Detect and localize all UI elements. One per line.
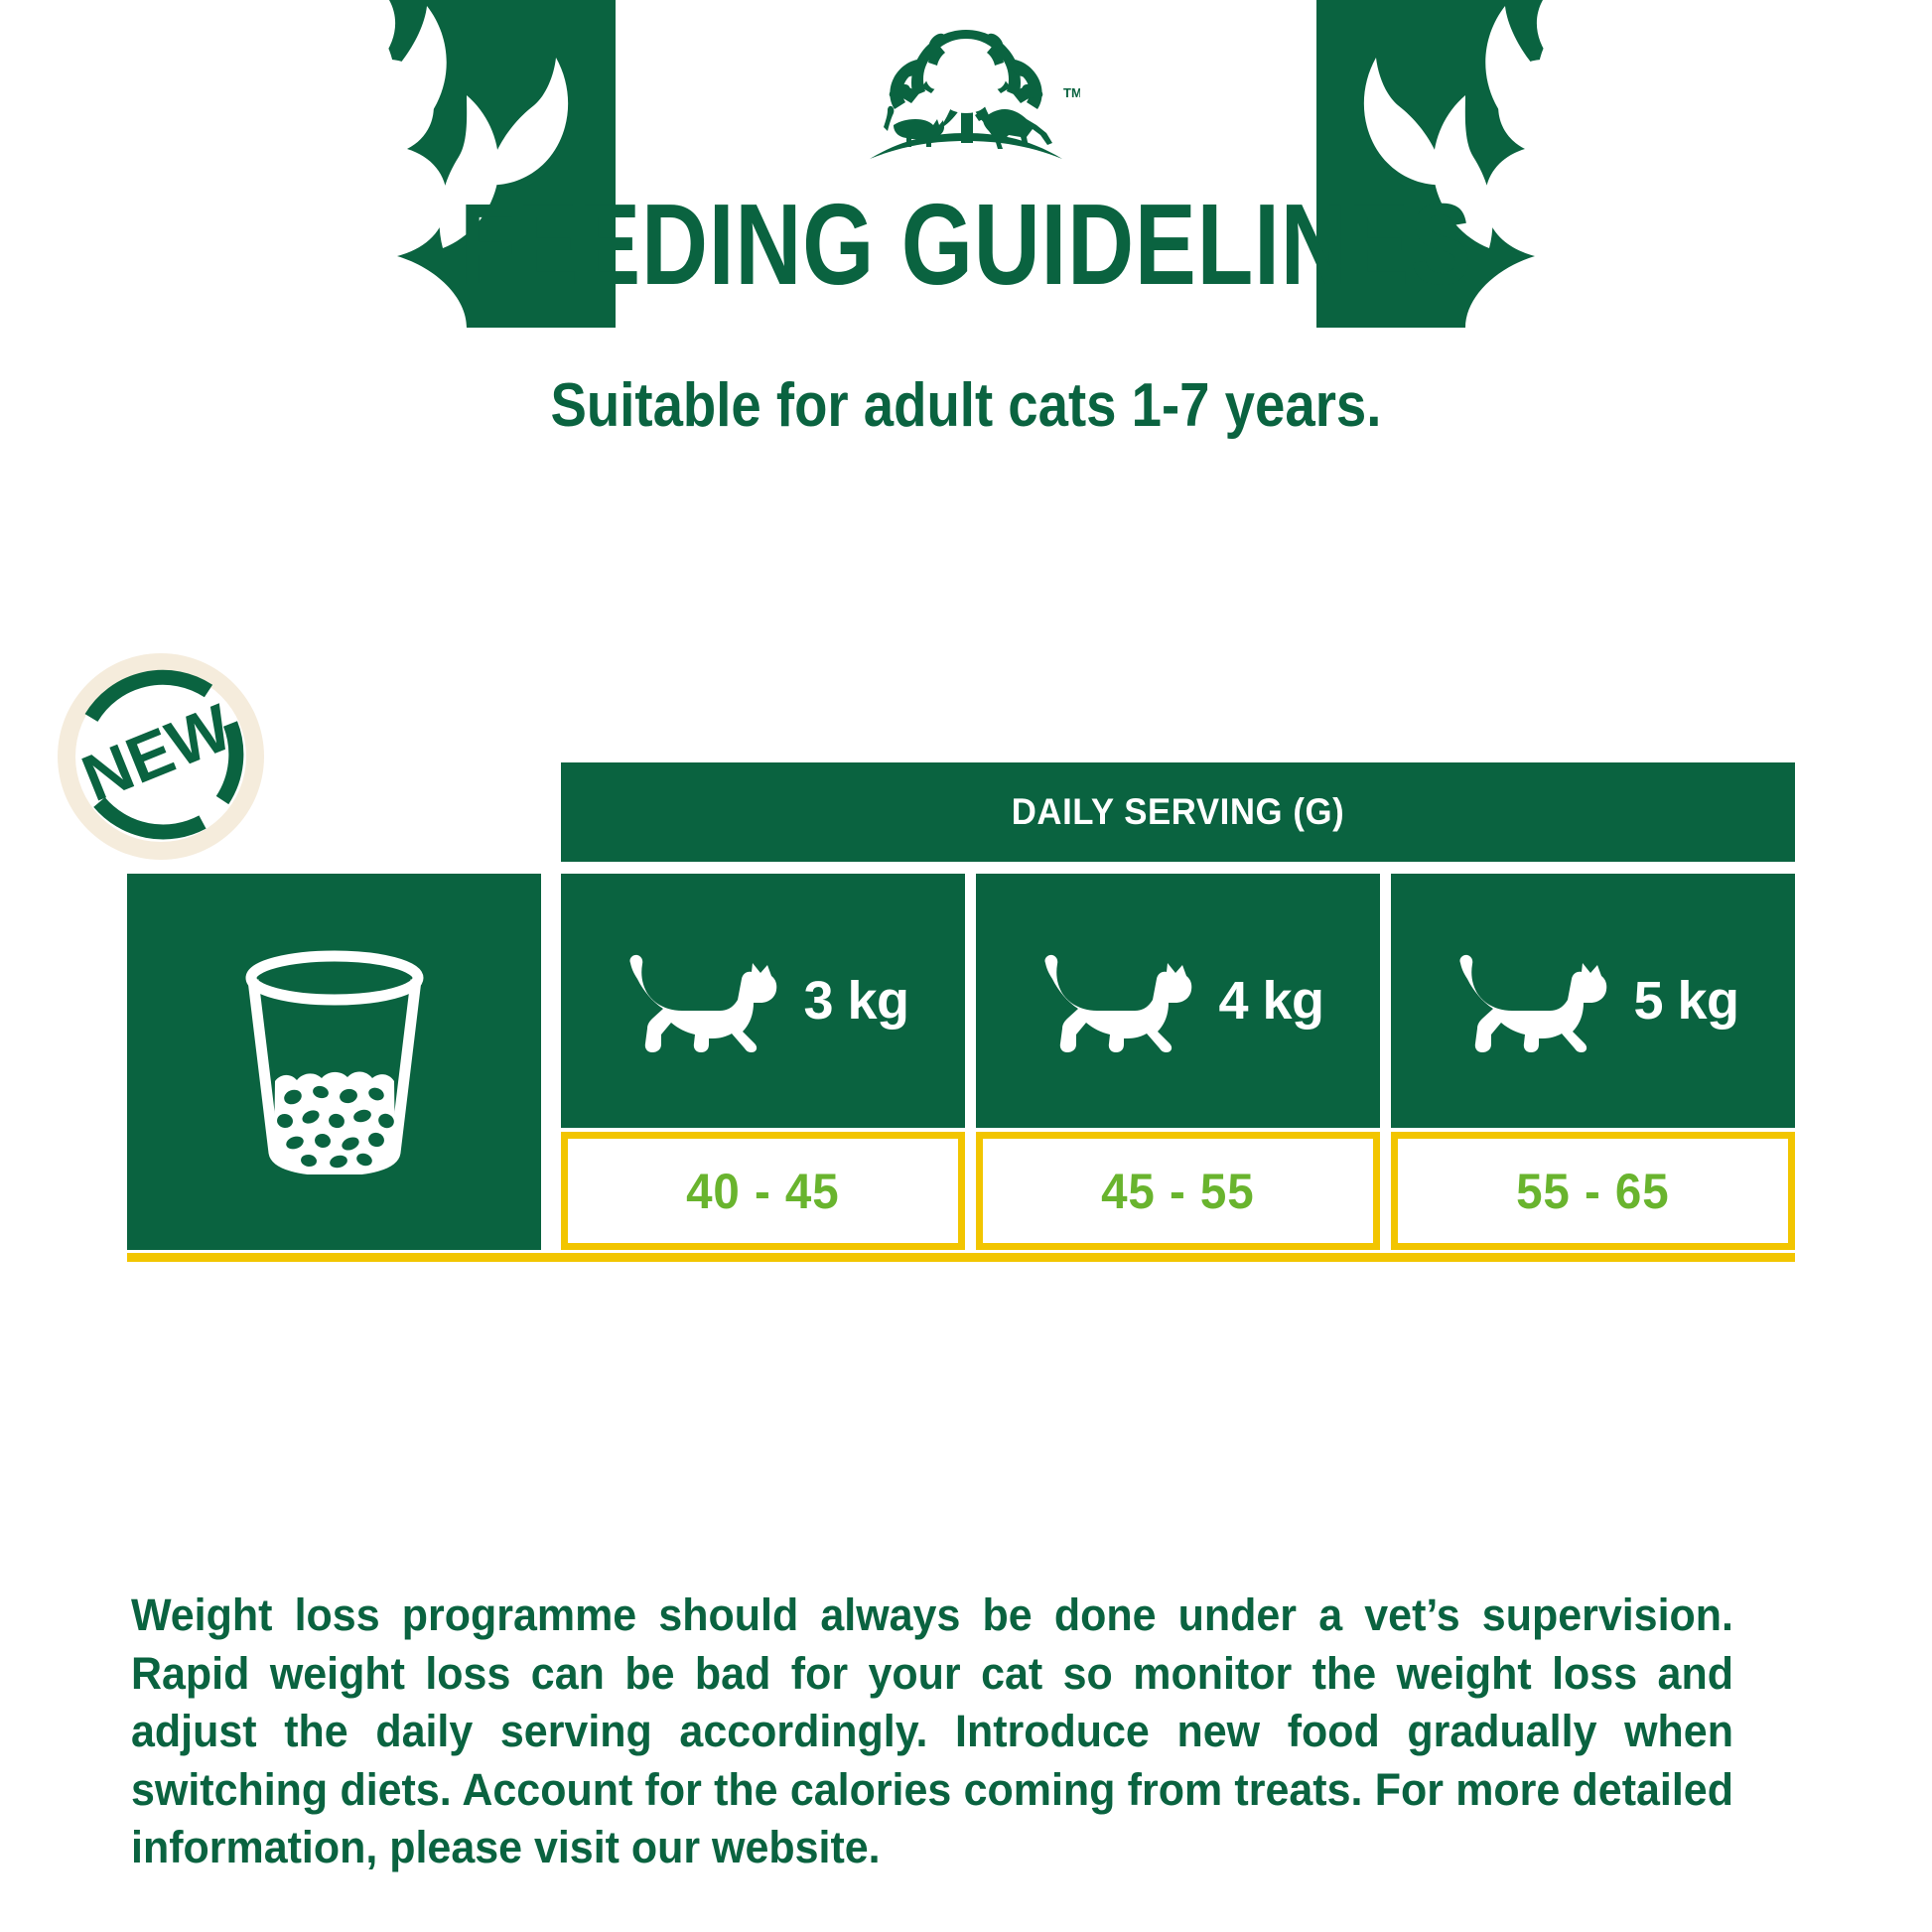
feeding-guidelines-page: TM FEEDING GUIDELINES Suitable for adult… (0, 0, 1932, 1932)
serving-value-label: 55 - 65 (1516, 1163, 1670, 1220)
serving-value-label: 45 - 55 (1101, 1163, 1255, 1220)
serving-value-row: 40 - 45 45 - 55 55 - 65 (561, 1132, 1795, 1250)
walking-cat-icon (617, 945, 785, 1056)
page-title: FEEDING GUIDELINES (194, 187, 1739, 302)
walking-cat-icon (1447, 945, 1615, 1056)
trademark-symbol: TM (1063, 85, 1080, 100)
feeding-table: DAILY SERVING (G) 3 kg 4 kg (127, 762, 1795, 1262)
serving-value-cell: 55 - 65 (1391, 1132, 1795, 1250)
measuring-cup-with-kibble-icon (237, 950, 432, 1174)
weight-label: 4 kg (1218, 970, 1323, 1032)
new-badge: NEW (48, 643, 274, 870)
weight-label: 3 kg (803, 970, 908, 1032)
serving-value-label: 40 - 45 (686, 1163, 840, 1220)
weight-label: 5 kg (1633, 970, 1738, 1032)
serving-value-cell: 45 - 55 (976, 1132, 1380, 1250)
weight-cell: 3 kg (561, 874, 965, 1128)
weight-header-row: 3 kg 4 kg 5 kg (561, 874, 1795, 1128)
daily-serving-header-label: DAILY SERVING (G) (1012, 791, 1345, 833)
walking-cat-icon (1032, 945, 1200, 1056)
footnote-text: Weight loss programme should always be d… (131, 1587, 1733, 1877)
serving-cup-panel (127, 874, 541, 1250)
weight-cell: 5 kg (1391, 874, 1795, 1128)
serving-value-cell: 40 - 45 (561, 1132, 965, 1250)
brand-logo: TM (852, 22, 1080, 166)
page-subtitle: Suitable for adult cats 1-7 years. (116, 375, 1816, 437)
table-bottom-rule (127, 1253, 1795, 1262)
serving-columns-region: DAILY SERVING (G) 3 kg 4 kg (561, 762, 1795, 1262)
daily-serving-header: DAILY SERVING (G) (561, 762, 1795, 862)
weight-cell: 4 kg (976, 874, 1380, 1128)
